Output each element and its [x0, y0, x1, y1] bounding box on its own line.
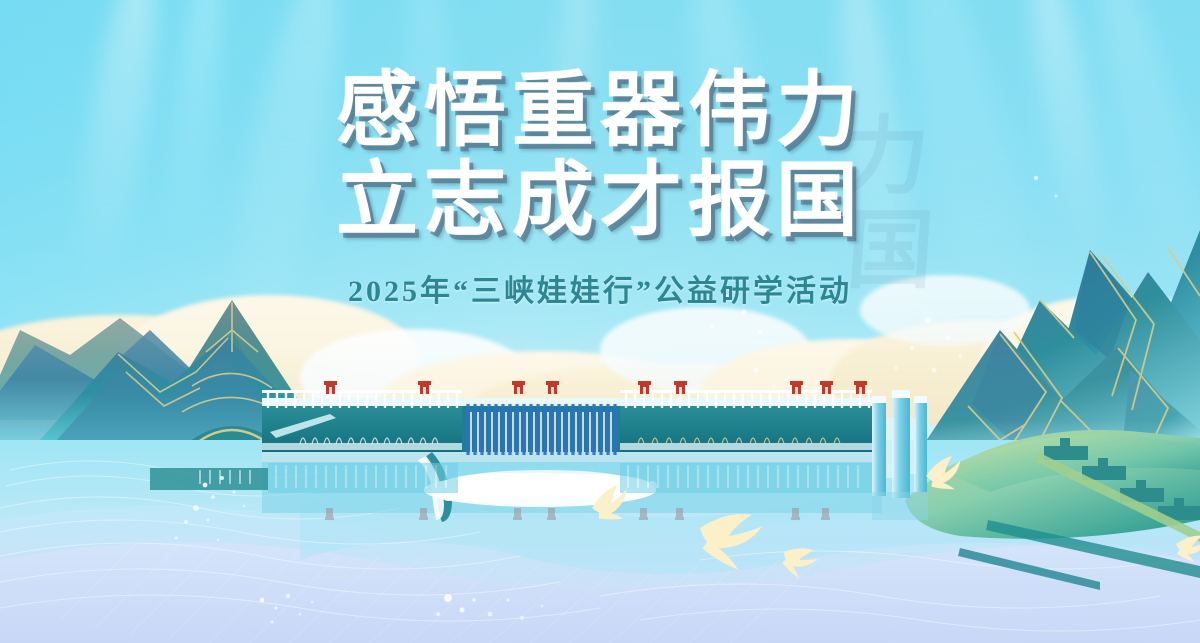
- landscape-layer: [0, 0, 1200, 643]
- dam-left-wing: [150, 468, 268, 490]
- ship-lift-tower: [872, 390, 928, 520]
- three-gorges-dam: [262, 381, 928, 522]
- event-banner: 力 国 感悟重器伟力 立志成才报国 2025年“三峡娃娃行”公益研学活动: [0, 0, 1200, 643]
